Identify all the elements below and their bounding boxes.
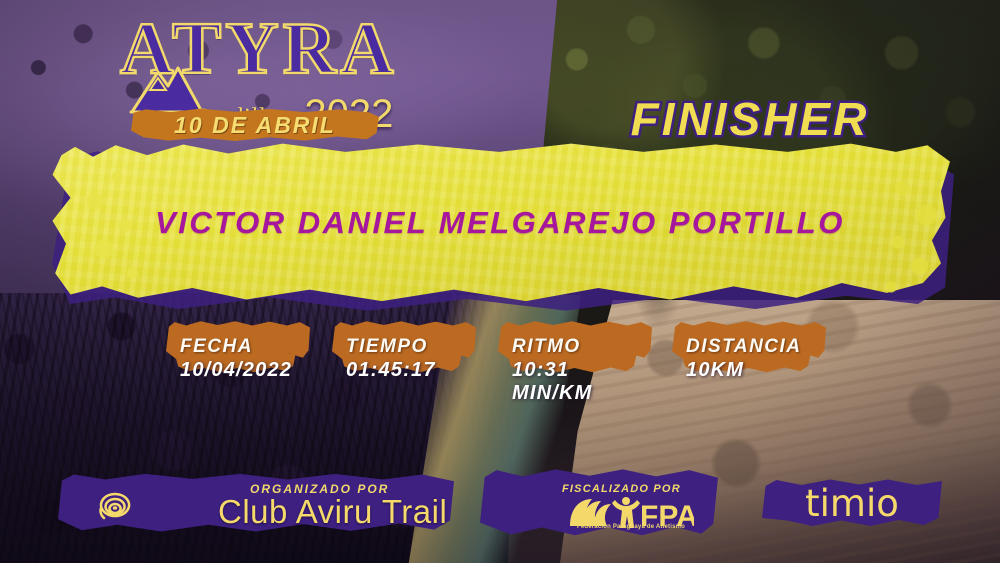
stat-value: 10KM xyxy=(686,359,744,382)
stat-value: 10:31 MIN/KM xyxy=(512,359,652,405)
stat-value: 01:45:17 xyxy=(346,359,436,382)
stat-label: FECHA xyxy=(180,336,253,358)
stat-fecha: FECHA 10/04/2022 xyxy=(166,318,310,392)
sanctioner-tagline: Federación Paraguaya de Atletismo xyxy=(566,524,696,530)
stat-label: RITMO xyxy=(512,336,581,358)
stat-label: TIEMPO xyxy=(346,336,428,358)
stat-value: 10/04/2022 xyxy=(180,359,292,382)
timing-partner-name: timio xyxy=(762,482,942,525)
stat-label: DISTANCIA xyxy=(686,336,802,358)
spiral-icon xyxy=(84,488,146,526)
stat-ritmo: RITMO 10:31 MIN/KM xyxy=(498,318,652,392)
finisher-badge: FINISHER xyxy=(600,92,900,146)
event-date-label: 10 DE ABRIL xyxy=(131,110,379,140)
stats-row: FECHA 10/04/2022 TIEMPO 01:45:17 RITMO 1… xyxy=(0,318,1000,392)
organizer-name: Club Aviru Trail xyxy=(218,493,447,531)
athlete-name: VICTOR DANIEL MELGAREJO PORTILLO xyxy=(60,200,940,246)
finisher-certificate: ATYRA Cordillera 2022 10 DE ABRIL FINISH… xyxy=(0,0,1000,563)
sanctioner-kicker: FISCALIZADO POR xyxy=(562,483,681,495)
stat-tiempo: TIEMPO 01:45:17 xyxy=(332,318,476,392)
stat-distancia: DISTANCIA 10KM xyxy=(672,318,826,392)
